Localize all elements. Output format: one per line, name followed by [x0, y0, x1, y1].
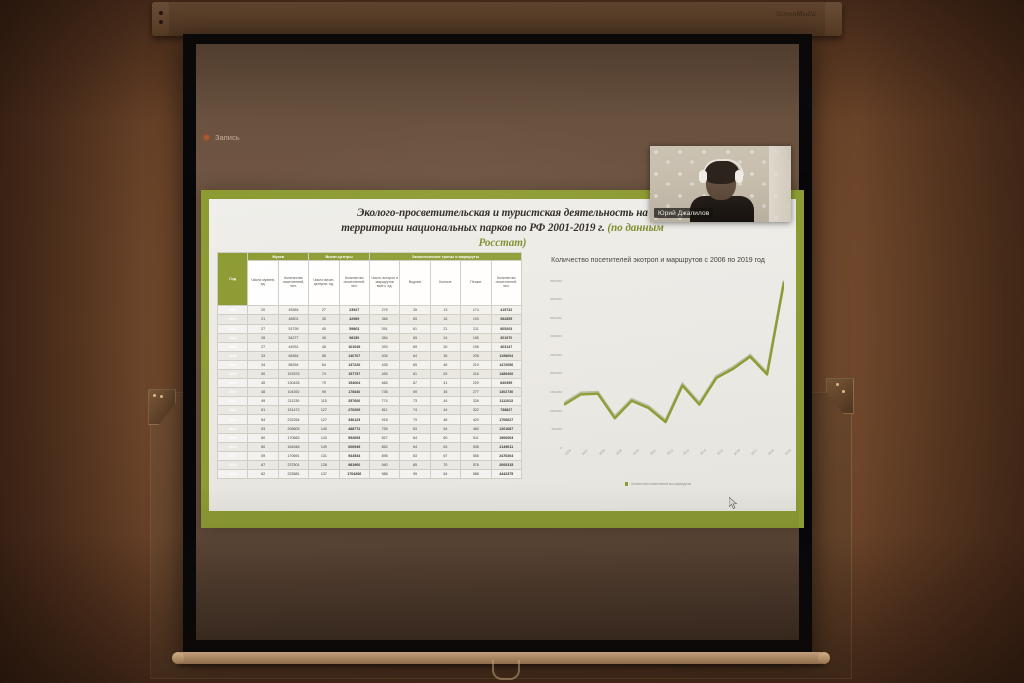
table-cell-foot: 460	[461, 424, 491, 433]
table-cell-museums: 54	[248, 415, 278, 424]
table-cell-foot: 326	[461, 397, 491, 406]
presentation-slide: Эколого-просветительская и туристская де…	[201, 190, 804, 528]
table-cell-foot: 193	[461, 315, 491, 324]
table-cell-water: 74	[400, 406, 430, 415]
table-cell-center_visitors: 154064	[339, 379, 369, 388]
table-cell-foot: 229	[461, 379, 491, 388]
table-cell-horse: 13	[430, 306, 460, 315]
table-cell-trail_visitors: 419732	[491, 306, 521, 315]
projector-screen-housing: ScreenMedia	[152, 2, 842, 36]
table-row: 2012511514721272702098117444322738827	[218, 406, 522, 415]
table-cell-year: 2014	[218, 424, 248, 433]
table-cell-trails: 895	[369, 451, 399, 460]
table-cell-trails: 384	[369, 333, 399, 342]
table-cell-center_visitors: 101049	[339, 342, 369, 351]
headphone-cup-left	[699, 170, 707, 183]
table-cell-museums: 59	[248, 451, 278, 460]
table-cell-centers: 74	[309, 370, 339, 379]
table-cell-museums: 33	[248, 351, 278, 360]
th-sub-8: Пешие	[461, 261, 491, 306]
table-cell-center_visitors: 488772	[339, 424, 369, 433]
y-tick-label: 1500000	[550, 391, 562, 394]
table-cell-foot: 208	[461, 351, 491, 360]
screen-pull-handle[interactable]	[492, 660, 520, 680]
table-cell-trails: 665	[369, 379, 399, 388]
table-cell-museums: 21	[248, 315, 278, 324]
th-group-3: Экологические тропы и маршруты	[369, 253, 521, 261]
slide-title-line2: территории национальных парков по РФ 200…	[341, 222, 607, 234]
table-cell-museum_visitors: 232264	[278, 415, 308, 424]
table-cell-foot: 277	[461, 388, 491, 397]
table-cell-center_visitors: 176840	[339, 388, 369, 397]
table-cell-horse: 64	[430, 470, 460, 479]
table-cell-foot: 211	[461, 324, 491, 333]
table-cell-trails: 774	[369, 397, 399, 406]
table-row: 20175917069113154453489563675552470204	[218, 451, 522, 460]
table-cell-trails: 827	[369, 433, 399, 442]
table-cell-foot: 322	[461, 406, 491, 415]
table-cell-water: 65	[400, 315, 430, 324]
table-cell-year: 2008	[218, 370, 248, 379]
table-row: 200945130428791540646656741229840359	[218, 379, 522, 388]
chart-legend: Количество посетителей эко-маршрутов	[528, 482, 788, 486]
th-group-2: Визит-центры	[309, 253, 370, 261]
chart-wrapper: Количество посетителей экотроп и маршрут…	[528, 252, 788, 479]
table-cell-water: 61	[400, 324, 430, 333]
table-cell-trail_visitors: 2149611	[491, 442, 521, 451]
table-row: 2010481043929517684073669452771302730	[218, 388, 522, 397]
table-cell-water: 64	[400, 433, 430, 442]
webcam-wall-panel	[769, 146, 791, 222]
table-cell-water: 35	[400, 306, 430, 315]
table-cell-museum_visitors: 86394	[278, 360, 308, 369]
table-cell-trail_visitors: 1201087	[491, 424, 521, 433]
recording-indicator[interactable]: Запись	[203, 133, 240, 142]
table-sub-header-row: Число музеев, ед. Количество посетителей…	[218, 261, 522, 306]
table-cell-museums: 49	[248, 397, 278, 406]
table-cell-year: 2017	[218, 451, 248, 460]
table-cell-centers: 128	[309, 460, 339, 469]
table-cell-museums: 67	[248, 460, 278, 469]
table-cell-year: 2012	[218, 406, 248, 415]
table-cell-trails: 755	[369, 424, 399, 433]
th-group-1: Музеи	[248, 253, 309, 261]
th-group-0: Год	[218, 253, 248, 306]
table-cell-center_visitors: 544534	[339, 451, 369, 460]
table-cell-horse: 44	[430, 397, 460, 406]
table-cell-museum_visitors: 237501	[278, 460, 308, 469]
table-cell-trail_visitors: 1111013	[491, 397, 521, 406]
slide-title-line1: Эколого-просветительская и туристская де…	[357, 207, 648, 219]
th-sub-7: Конные	[430, 261, 460, 306]
table-cell-trails: 393	[369, 342, 399, 351]
table-cell-water: 63	[400, 451, 430, 460]
table-cell-trails: 736	[369, 388, 399, 397]
webcam-participant-name: Юрий Джалилов	[654, 208, 713, 218]
table-cell-trails: 852	[369, 442, 399, 451]
table-cell-water: 64	[400, 442, 430, 451]
table-cell-trail_visitors: 805203	[491, 324, 521, 333]
table-cell-centers: 45	[309, 333, 339, 342]
table-cell-museum_visitors: 130428	[278, 379, 308, 388]
table-cell-water: 73	[400, 397, 430, 406]
table-cell-water: 69	[400, 342, 430, 351]
table-cell-horse: 46	[430, 360, 460, 369]
table-row: 2002214850135429893666516193582855	[218, 315, 522, 324]
table-cell-year: 2007	[218, 360, 248, 369]
table-cell-museums: 53	[248, 424, 278, 433]
roller-cap-right	[818, 652, 830, 664]
table-cell-museums: 60	[248, 433, 278, 442]
table-cell-trail_visitors: 2000315	[491, 460, 521, 469]
table-cell-trails: 435	[369, 360, 399, 369]
table-cell-year: 2002	[218, 315, 248, 324]
table-cell-horse: 30	[430, 342, 460, 351]
table-cell-centers: 127	[309, 415, 339, 424]
table-cell-trails: 391	[369, 324, 399, 333]
table-cell-water: 99	[400, 470, 430, 479]
roller-cap-left	[172, 652, 184, 664]
table-cell-foot: 420	[461, 415, 491, 424]
housing-cap-left	[152, 2, 169, 36]
table-cell-museums: 62	[248, 470, 278, 479]
table-cell-museum_visitors: 170691	[278, 451, 308, 460]
table-row: 20166016494614960654985264635362149611	[218, 442, 522, 451]
table-cell-trail_visitors: 1198654	[491, 351, 521, 360]
th-sub-1: Число музеев, ед.	[248, 261, 278, 306]
table-cell-center_visitors: 981900	[339, 460, 369, 469]
table-group-header-row: Год Музеи Визит-центры Экологические тро…	[218, 253, 522, 261]
table-cell-year: 2013	[218, 415, 248, 424]
table-cell-museum_visitors: 211239	[278, 397, 308, 406]
table-cell-museum_visitors: 170663	[278, 433, 308, 442]
table-cell-foot: 588	[461, 470, 491, 479]
table-head: Год Музеи Визит-центры Экологические тро…	[218, 253, 522, 306]
table-body: 2001204536427239272793513174419732200221…	[218, 306, 522, 479]
y-tick-label: 2000000	[550, 372, 562, 375]
chart-plot-area: 4500000400000035000003000000250000020000…	[528, 280, 788, 480]
table-cell-water: 64	[400, 351, 430, 360]
table-cell-trails: 940	[369, 460, 399, 469]
table-cell-trail_visitors: 738827	[491, 406, 521, 415]
slide-title-accent1: (по данным	[607, 222, 663, 234]
table-cell-horse: 53	[430, 370, 460, 379]
table-cell-horse: 70	[430, 460, 460, 469]
table-cell-museum_visitors: 205605	[278, 424, 308, 433]
table-cell-center_visitors: 606549	[339, 442, 369, 451]
table-cell-museums: 34	[248, 360, 278, 369]
table-cell-trail_visitors: 403147	[491, 342, 521, 351]
table-cell-museum_visitors: 164946	[278, 442, 308, 451]
table-cell-foot: 196	[461, 342, 491, 351]
y-tick-label: 1000000	[550, 410, 562, 413]
table-cell-center_visitors: 336123	[339, 415, 369, 424]
table-row: 200633845645814070740664362081198654	[218, 351, 522, 360]
housing-cap-right	[825, 2, 842, 36]
table-cell-year: 2001	[218, 306, 248, 315]
recording-label: Запись	[215, 133, 240, 142]
table-cell-trails: 366	[369, 315, 399, 324]
table-cell-trail_visitors: 582855	[491, 315, 521, 324]
table-cell-museums: 60	[248, 442, 278, 451]
table-cell-year: 2003	[218, 324, 248, 333]
table-cell-horse: 44	[430, 406, 460, 415]
table-cell-trails: 811	[369, 406, 399, 415]
table-row: 200734863946413722043565462191472056	[218, 360, 522, 369]
table-cell-foot: 219	[461, 360, 491, 369]
table-cell-horse: 21	[430, 324, 460, 333]
chart-line-plot	[564, 280, 784, 450]
table-cell-foot: 576	[461, 460, 491, 469]
table-cell-horse: 36	[430, 351, 460, 360]
table-cell-foot: 185	[461, 333, 491, 342]
table-cell-centers: 140	[309, 424, 339, 433]
th-sub-9: Количество посетителей, чел.	[491, 261, 521, 306]
chart-title: Количество посетителей экотроп и маршрут…	[528, 256, 788, 265]
table-cell-museum_visitors: 157876	[278, 370, 308, 379]
table-cell-trail_visitors: 1489406	[491, 370, 521, 379]
table-cell-trails: 918	[369, 415, 399, 424]
national-parks-table: Год Музеи Визит-центры Экологические тро…	[217, 252, 522, 479]
table-cell-year: 2006	[218, 351, 248, 360]
legend-swatch-icon	[625, 482, 629, 486]
table-cell-trails: 279	[369, 306, 399, 315]
table-cell-horse: 60	[430, 433, 460, 442]
table-row: 20135423226412733612391879484201706627	[218, 415, 522, 424]
table-cell-trails: 455	[369, 370, 399, 379]
table-cell-museum_visitors: 51795	[278, 324, 308, 333]
table-cell-museum_visitors: 151472	[278, 406, 308, 415]
table-cell-water: 69	[400, 388, 430, 397]
table-cell-centers: 115	[309, 397, 339, 406]
table-cell-center_visitors: 59863	[339, 324, 369, 333]
table-cell-water: 79	[400, 415, 430, 424]
table-cell-trail_visitors: 301970	[491, 333, 521, 342]
y-tick-label: 500000	[552, 428, 562, 431]
legend-label: Количество посетителей эко-маршрутов	[631, 482, 691, 486]
table-cell-center_visitors: 137220	[339, 360, 369, 369]
data-table-wrapper: Год Музеи Визит-центры Экологические тро…	[217, 252, 522, 479]
table-cell-museums: 48	[248, 388, 278, 397]
table-row: 20052744931481010493936930196403147	[218, 342, 522, 351]
chart-line-shadow	[564, 280, 784, 420]
table-cell-museums: 20	[248, 306, 278, 315]
chart-x-axis-labels: 2006200720082009201020112012201320142015…	[564, 452, 784, 482]
table-cell-museums: 50	[248, 370, 278, 379]
y-tick-label: 4000000	[550, 298, 562, 301]
table-row: 201962223581137170426698899645884442375	[218, 470, 522, 479]
table-cell-center_visitors: 42989	[339, 315, 369, 324]
table-cell-trail_visitors: 1472056	[491, 360, 521, 369]
table-row: 20186723750112898190094065705762000315	[218, 460, 522, 469]
th-sub-2: Количество посетителей, чел.	[278, 261, 308, 306]
table-cell-museum_visitors: 48501	[278, 315, 308, 324]
table-cell-museum_visitors: 54277	[278, 333, 308, 342]
slide-content: Эколого-просветительская и туристская де…	[209, 199, 796, 511]
chart-data-line	[564, 282, 784, 422]
table-cell-year: 2016	[218, 442, 248, 451]
table-cell-horse: 67	[430, 451, 460, 460]
headphone-cup-right	[735, 170, 743, 183]
table-cell-foot: 174	[461, 306, 491, 315]
table-cell-year: 2019	[218, 470, 248, 479]
y-tick-label: 3500000	[550, 317, 562, 320]
table-cell-centers: 64	[309, 360, 339, 369]
table-cell-horse: 24	[430, 333, 460, 342]
table-cell-center_visitors: 157757	[339, 370, 369, 379]
table-cell-horse: 16	[430, 315, 460, 324]
table-cell-centers: 48	[309, 342, 339, 351]
table-cell-museums: 45	[248, 379, 278, 388]
table-cell-museums: 27	[248, 324, 278, 333]
table-cell-center_visitors: 140707	[339, 351, 369, 360]
y-tick-label: 3000000	[550, 335, 562, 338]
table-cell-centers: 127	[309, 406, 339, 415]
table-cell-year: 2004	[218, 333, 248, 342]
table-cell-museum_visitors: 45364	[278, 306, 308, 315]
table-cell-foot: 555	[461, 451, 491, 460]
y-tick-label: 0	[560, 447, 562, 450]
table-cell-museums: 51	[248, 406, 278, 415]
table-cell-trails: 406	[369, 351, 399, 360]
table-row: 20156017066314359269382764605111906003	[218, 433, 522, 442]
table-cell-center_visitors: 1704266	[339, 470, 369, 479]
room-scene: ScreenMedia Запись Эколого-просветительс…	[0, 0, 1024, 683]
table-cell-horse: 54	[430, 424, 460, 433]
table-cell-centers: 137	[309, 470, 339, 479]
table-cell-trail_visitors: 2470204	[491, 451, 521, 460]
table-cell-trails: 988	[369, 470, 399, 479]
chart-y-axis-labels: 4500000400000035000003000000250000020000…	[528, 280, 562, 450]
table-row: 2003275179545598633916121211805203	[218, 324, 522, 333]
record-icon	[203, 134, 210, 141]
table-cell-museum_visitors: 104392	[278, 388, 308, 397]
projector-brand-label: ScreenMedia	[776, 10, 816, 18]
table-cell-year: 2009	[218, 379, 248, 388]
th-sub-5: Число экотроп и маршрутов всего, ед.	[369, 261, 399, 306]
table-cell-centers: 131	[309, 451, 339, 460]
table-cell-trail_visitors: 1302730	[491, 388, 521, 397]
mouse-cursor-icon	[729, 497, 738, 510]
table-row: 2001204536427239272793513174419732	[218, 306, 522, 315]
webcam-pip[interactable]: Юрий Джалилов	[650, 146, 791, 222]
th-sub-4: Количество посетителей, чел.	[339, 261, 369, 306]
table-cell-center_visitors: 257606	[339, 397, 369, 406]
table-row: 20114921123911525760677473443261111013	[218, 397, 522, 406]
table-cell-horse: 63	[430, 442, 460, 451]
table-cell-centers: 149	[309, 442, 339, 451]
table-cell-center_visitors: 98150	[339, 333, 369, 342]
th-sub-3: Число визит-центров, ед.	[309, 261, 339, 306]
y-tick-label: 2500000	[550, 354, 562, 357]
table-cell-centers: 58	[309, 351, 339, 360]
table-cell-foot: 511	[461, 433, 491, 442]
table-cell-foot: 536	[461, 442, 491, 451]
table-cell-year: 2011	[218, 397, 248, 406]
table-cell-year: 2018	[218, 460, 248, 469]
table-cell-water: 65	[400, 460, 430, 469]
table-cell-year: 2005	[218, 342, 248, 351]
table-cell-centers: 79	[309, 379, 339, 388]
table-row: 2008501578767415775745561532161489406	[218, 370, 522, 379]
table-cell-museum_visitors: 223581	[278, 470, 308, 479]
table-cell-water: 63	[400, 424, 430, 433]
table-cell-center_visitors: 592693	[339, 433, 369, 442]
table-cell-museum_visitors: 84564	[278, 351, 308, 360]
table-cell-water: 65	[400, 360, 430, 369]
x-tick-label: 2019	[784, 448, 792, 456]
table-cell-trail_visitors: 1906003	[491, 433, 521, 442]
table-cell-horse: 45	[430, 388, 460, 397]
table-cell-museum_visitors: 44931	[278, 342, 308, 351]
table-cell-water: 67	[400, 379, 430, 388]
table-cell-trail_visitors: 4442375	[491, 470, 521, 479]
table-cell-trail_visitors: 840359	[491, 379, 521, 388]
chart-svg	[564, 280, 784, 450]
table-cell-trail_visitors: 1706627	[491, 415, 521, 424]
table-cell-foot: 216	[461, 370, 491, 379]
table-cell-horse: 41	[430, 379, 460, 388]
table-cell-centers: 27	[309, 306, 339, 315]
table-cell-water: 61	[400, 370, 430, 379]
table-cell-centers: 95	[309, 388, 339, 397]
table-cell-year: 2015	[218, 433, 248, 442]
table-cell-centers: 35	[309, 315, 339, 324]
table-cell-centers: 45	[309, 324, 339, 333]
table-row: 20145320560514048877275563544601201087	[218, 424, 522, 433]
table-cell-center_visitors: 270209	[339, 406, 369, 415]
table-cell-centers: 143	[309, 433, 339, 442]
slide-title-accent2: Росстат)	[479, 237, 527, 249]
table-row: 2004285427745981503846524185301970	[218, 333, 522, 342]
y-tick-label: 4500000	[550, 280, 562, 283]
th-sub-6: Водные	[400, 261, 430, 306]
table-cell-horse: 48	[430, 415, 460, 424]
table-cell-museums: 28	[248, 333, 278, 342]
table-cell-water: 65	[400, 333, 430, 342]
table-cell-center_visitors: 23927	[339, 306, 369, 315]
table-cell-year: 2010	[218, 388, 248, 397]
table-cell-museums: 27	[248, 342, 278, 351]
